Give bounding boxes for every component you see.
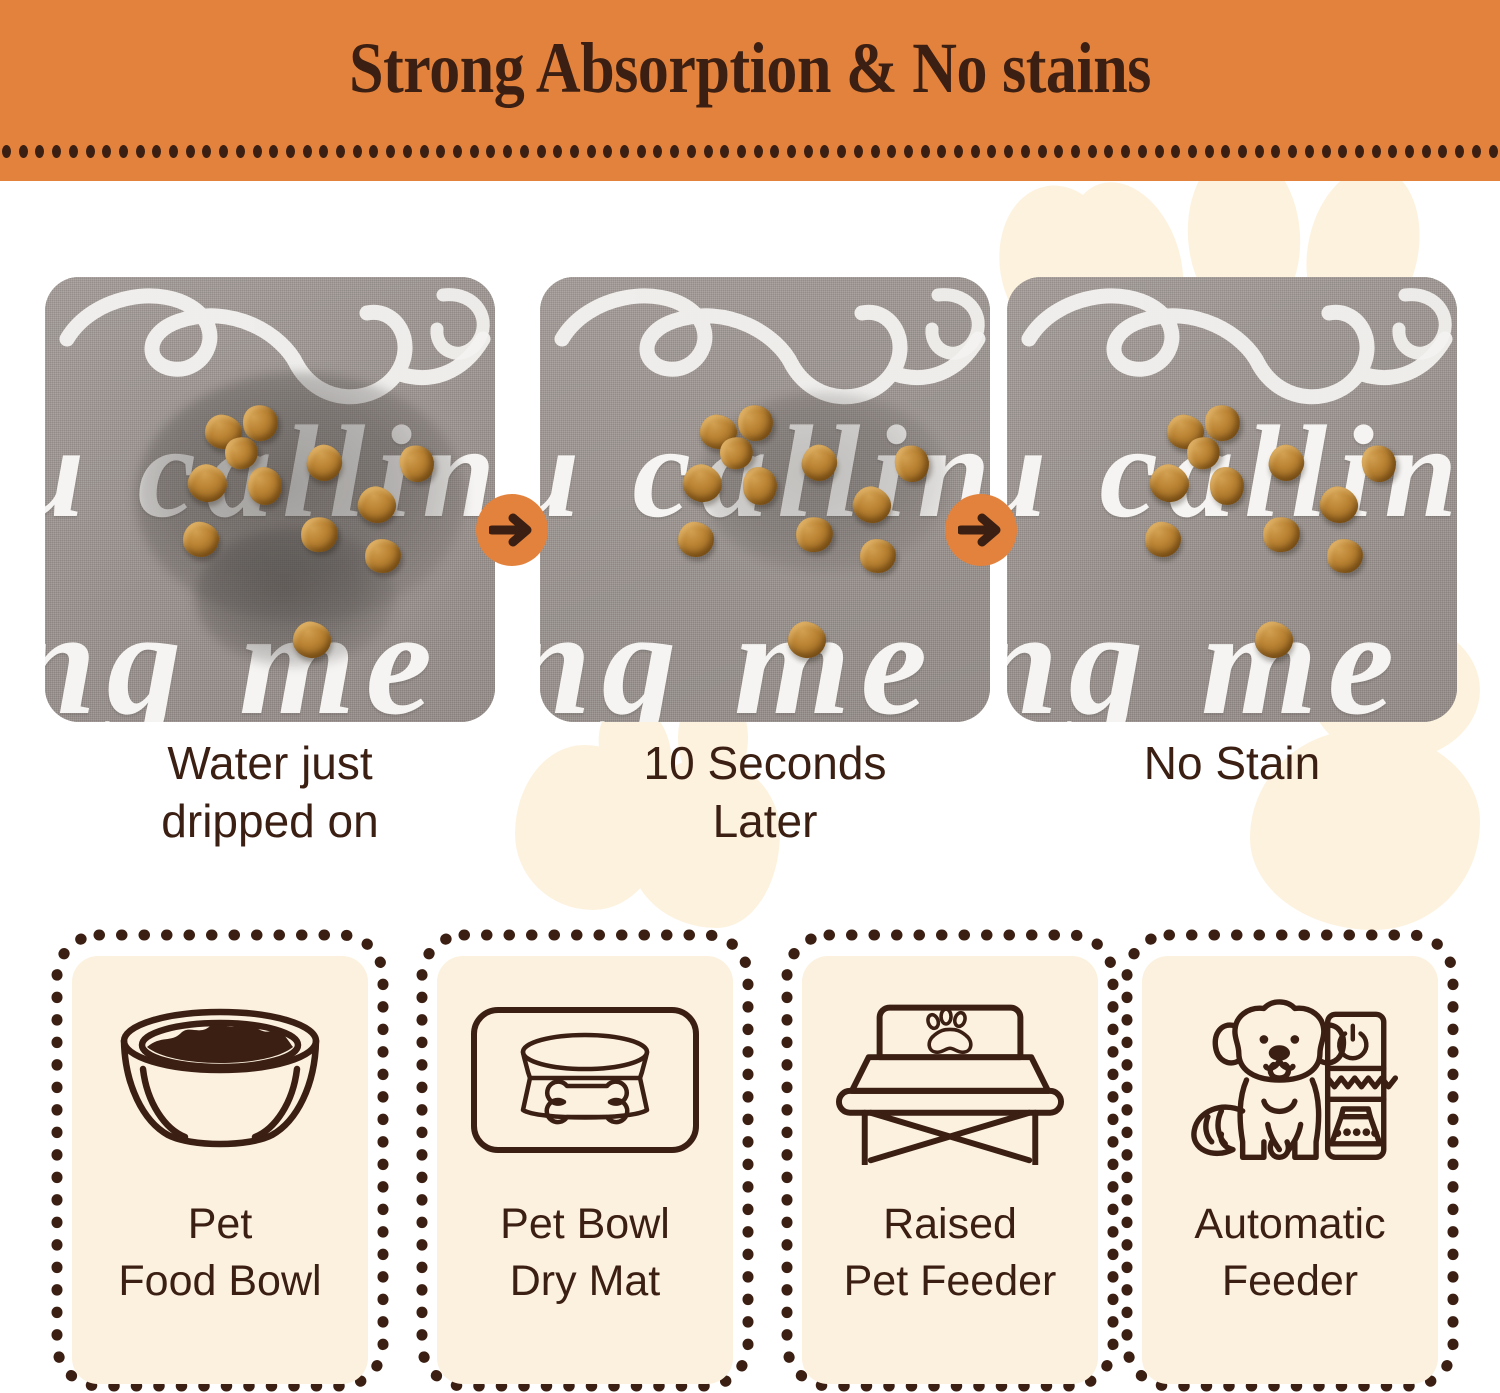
use-case-card-pet-bowl-dry-mat[interactable]: Pet Bowl Dry Mat bbox=[415, 928, 755, 1393]
use-case-card-automatic-feeder[interactable]: Automatic Feeder bbox=[1120, 928, 1460, 1393]
use-case-card-pet-food-bowl[interactable]: Pet Food Bowl bbox=[50, 928, 390, 1393]
pet-mat-ten-seconds-later-photo: u calling ng me bbox=[540, 277, 990, 722]
card-label: Pet Bowl Dry Mat bbox=[435, 1196, 735, 1310]
arrow-right-icon bbox=[945, 494, 1017, 566]
use-case-card-raised-pet-feeder[interactable]: Raised Pet Feeder bbox=[780, 928, 1120, 1393]
pet-mat-water-dripped-photo: u calling ng me bbox=[45, 277, 495, 722]
pet-food-bowl-icon bbox=[105, 990, 335, 1170]
header-banner: Strong Absorption & No stains bbox=[0, 0, 1500, 181]
card-label: Pet Food Bowl bbox=[70, 1196, 370, 1310]
pet-mat-no-stain-photo: u calling ng me bbox=[1007, 277, 1457, 722]
absorption-demo-photos: u calling ng me bbox=[0, 181, 1500, 741]
automatic-feeder-icon bbox=[1175, 990, 1405, 1170]
arrow-right-icon bbox=[476, 494, 548, 566]
card-body: Automatic Feeder bbox=[1142, 956, 1438, 1384]
dotted-line-divider-icon bbox=[0, 143, 1500, 159]
card-label: Automatic Feeder bbox=[1140, 1196, 1440, 1310]
use-case-cards: Pet Food Bowl bbox=[0, 928, 1500, 1393]
card-body: Raised Pet Feeder bbox=[802, 956, 1098, 1384]
caption-water-dripped: Water just dripped on bbox=[45, 734, 495, 850]
card-body: Pet Food Bowl bbox=[72, 956, 368, 1384]
caption-ten-seconds-later: 10 Seconds Later bbox=[540, 734, 990, 850]
raised-pet-feeder-icon bbox=[835, 990, 1065, 1170]
card-label: Raised Pet Feeder bbox=[800, 1196, 1100, 1310]
page-title: Strong Absorption & No stains bbox=[105, 27, 1395, 110]
pet-bowl-dry-mat-icon bbox=[470, 990, 700, 1170]
card-body: Pet Bowl Dry Mat bbox=[437, 956, 733, 1384]
demo-captions: Water just dripped on 10 Seconds Later N… bbox=[0, 734, 1500, 864]
caption-no-stain: No Stain bbox=[1007, 734, 1457, 792]
